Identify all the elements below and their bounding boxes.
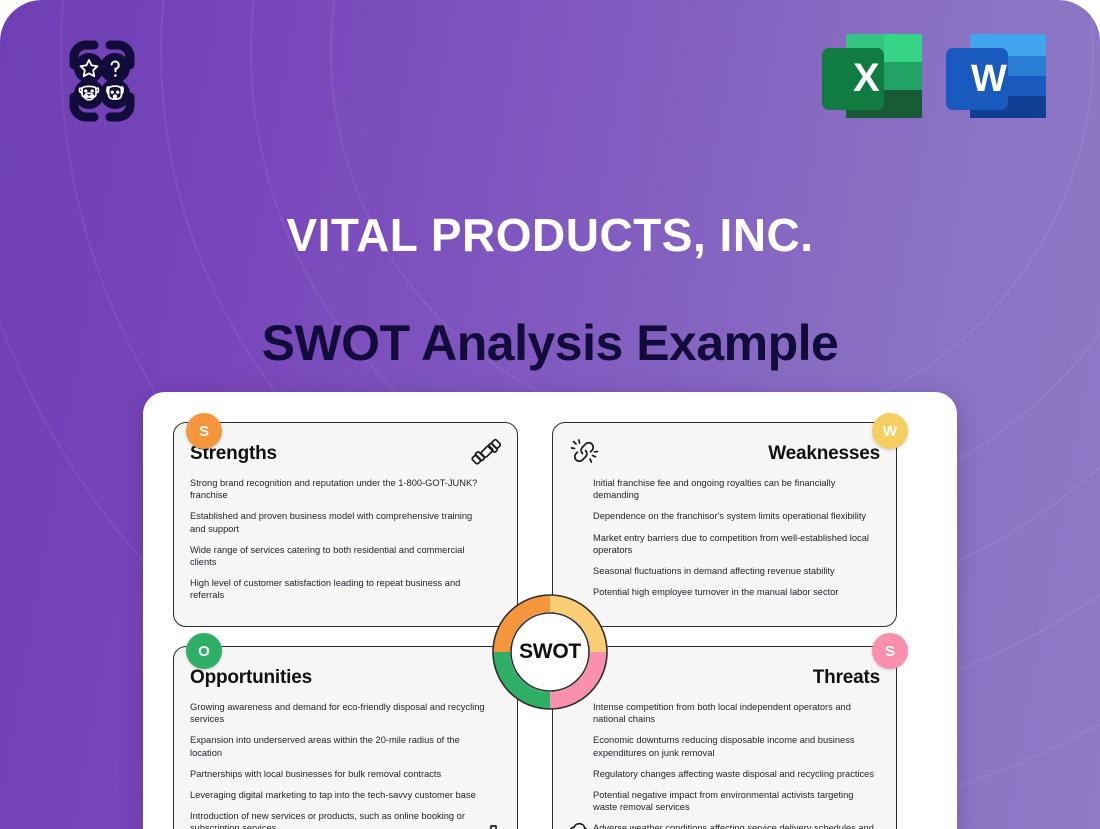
weaknesses-header: Weaknesses [569,437,880,471]
opportunities-header: Opportunities [190,661,501,695]
badge-strengths: S [186,413,222,449]
list-item: Leveraging digital marketing to tap into… [190,789,490,801]
threats-header: Threats [569,661,880,695]
list-item: High level of customer satisfaction lead… [190,577,490,601]
word-icon[interactable]: W [944,32,1048,125]
page-subtitle: SWOT Analysis Example [0,314,1100,372]
list-item: Intense competition from both local inde… [593,701,880,725]
list-item: Expansion into underserved areas within … [190,734,490,758]
list-item: Initial franchise fee and ongoing royalt… [593,477,880,501]
excel-icon[interactable]: X [820,32,924,125]
swot-donut: SWOT [492,594,608,710]
svg-text:W: W [971,58,1007,100]
pet-scan-logo-icon [52,31,152,131]
list-item: Growing awareness and demand for eco-fri… [190,701,490,725]
bar-chart-icon [473,821,503,829]
badge-weaknesses: W [872,413,908,449]
strengths-list: Strong brand recognition and reputation … [190,477,501,602]
list-item: Regulatory changes affecting waste dispo… [593,768,880,780]
opportunities-list: Growing awareness and demand for eco-fri… [190,701,501,829]
list-item: Dependence on the franchisor's system li… [593,510,880,522]
svg-text:X: X [853,56,880,100]
dumbbell-icon [471,437,501,467]
weaknesses-title: Weaknesses [768,443,880,465]
quadrant-strengths[interactable]: Strengths [173,422,518,627]
threats-list: Intense competition from both local inde… [569,701,880,829]
broken-chain-icon [569,437,599,467]
list-item: Market entry barriers due to competition… [593,532,880,556]
strengths-header: Strengths [190,437,501,471]
swot-center-label: SWOT [492,594,608,710]
list-item: Partnerships with local businesses for b… [190,768,490,780]
storm-cloud-icon [565,817,595,829]
opportunities-title: Opportunities [190,667,312,689]
swot-infographic-page: X W VITAL PRODUCTS, INC. SWOT Analysis E… [0,0,1100,829]
threats-title: Threats [813,667,880,689]
list-item: Seasonal fluctuations in demand affectin… [593,565,880,577]
weaknesses-list: Initial franchise fee and ongoing royalt… [569,477,880,598]
list-item: Established and proven business model wi… [190,510,490,534]
list-item: Potential negative impact from environme… [593,789,880,813]
quadrant-opportunities[interactable]: Opportunities Growing awareness and dema… [173,646,518,829]
list-item: Adverse weather conditions affecting ser… [593,822,880,829]
badge-threats: S [872,633,908,669]
list-item: Economic downturns reducing disposable i… [593,734,880,758]
list-item: Introduction of new services or products… [190,810,490,829]
page-title: VITAL PRODUCTS, INC. [0,208,1100,262]
list-item: Strong brand recognition and reputation … [190,477,490,501]
list-item: Potential high employee turnover in the … [593,586,880,598]
list-item: Wide range of services catering to both … [190,544,490,568]
badge-opportunities: O [186,633,222,669]
